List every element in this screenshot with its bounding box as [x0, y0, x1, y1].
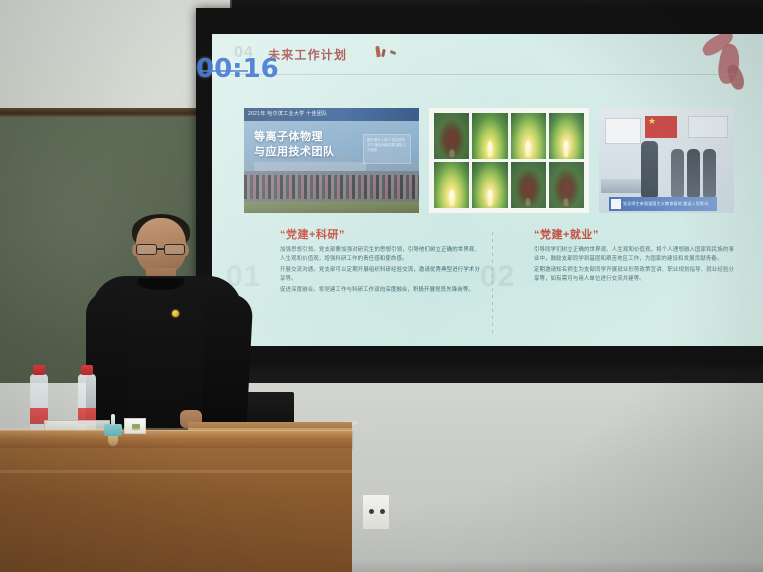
column-watermark-number: 02	[480, 262, 515, 292]
presentation-slide: 04 未来工作计划 2021年 哈尔滨工业大学 十佳团队 等离子体物理 与应用技…	[212, 34, 763, 346]
podium-front-panel	[0, 448, 352, 572]
slide-column-one: 01 “党建+科研” 加强思想引领。党支部要加强对研究生的思想引领，引导他们树立…	[246, 226, 484, 338]
party-exhibition-photo: 党员师生参观爱国主义教育基地 重温入党誓词	[599, 108, 734, 213]
grid-cell	[434, 113, 469, 159]
exhibit-rail	[601, 179, 645, 193]
column-heading: “党建+就业”	[534, 226, 599, 242]
team-photo-crowd	[244, 171, 419, 213]
grid-cell	[549, 113, 584, 159]
sweater-collar	[138, 276, 184, 290]
bottle-cap	[33, 365, 45, 375]
grid-cell	[472, 162, 507, 208]
podium-top	[0, 430, 352, 448]
column-paragraph: 加强思想引领。党支部要加强对研究生的思想引领，引导他们树立正确的世界观、人生观和…	[280, 246, 480, 263]
team-photo-banner: 2021年 哈尔滨工业大学 十佳团队	[244, 108, 419, 121]
mint-colored-item[interactable]	[104, 424, 122, 436]
wall-power-socket[interactable]	[362, 494, 390, 530]
column-body: 加强思想引领。党支部要加强对研究生的思想引领，引导他们树立正确的世界观、人生观和…	[280, 246, 480, 298]
slide-image-row: 2021年 哈尔滨工业大学 十佳团队 等离子体物理 与应用技术团队 团队带头人简…	[244, 108, 734, 213]
column-heading: “党建+科研”	[280, 226, 345, 242]
party-emblem-pin-icon	[172, 310, 179, 317]
column-body: 引导同学们树立正确的世界观、人生观和价值观，将个人理想融入国家和民族的事业中，鼓…	[534, 246, 734, 286]
visitor-figure	[703, 149, 716, 197]
column-paragraph: 促进深度融合。将党建工作与科研工作双向深度融合，积极开展党员先锋岗等。	[280, 286, 480, 295]
header-divider	[230, 74, 735, 75]
column-paragraph: 定期邀请知名师生为支部同学开展就业形势政策宣讲、职业规划指导、就业经验分享等，如…	[534, 266, 734, 283]
photo-caption: 党员师生参观爱国主义教育基地 重温入党誓词	[609, 197, 717, 211]
grid-cell	[434, 162, 469, 208]
podium-edge-highlight	[0, 428, 352, 431]
exhibit-panel	[688, 116, 728, 138]
eyeglasses-icon	[134, 244, 188, 255]
presenter-right-arm	[201, 293, 254, 427]
timer-overlay: 00:16	[196, 54, 279, 84]
column-paragraph: 开展交流沟通。党支部可以定期开展组织科研经验交流，邀请优秀典型进行学术分享等。	[280, 266, 480, 283]
party-flag-icon	[645, 116, 677, 138]
visitor-figure	[641, 141, 658, 197]
timer-strike-line	[200, 70, 248, 72]
slide-column-two: 02 “党建+就业” 引导同学们树立正确的世界观、人生观和价值观，将个人理想融入…	[500, 226, 738, 338]
projection-screen: 04 未来工作计划 2021年 哈尔滨工业大学 十佳团队 等离子体物理 与应用技…	[196, 8, 763, 364]
grid-cell	[511, 162, 546, 208]
grid-cell	[472, 113, 507, 159]
team-photo-headline: 等离子体物理 与应用技术团队	[254, 130, 364, 160]
white-box[interactable]	[124, 418, 146, 434]
team-photo-subcard: 团队带头人简介 团队研究方向 团队科研成果 团队人才培养	[363, 134, 411, 164]
team-group-photo: 2021年 哈尔滨工业大学 十佳团队 等离子体物理 与应用技术团队 团队带头人简…	[244, 108, 419, 213]
slide-title: 未来工作计划	[268, 46, 347, 63]
exhibit-panel	[605, 118, 641, 144]
visitor-figure	[687, 149, 700, 197]
bottle-cap	[81, 365, 93, 375]
plasma-image-grid	[429, 108, 589, 213]
classroom-scene: 04 未来工作计划 2021年 哈尔滨工业大学 十佳团队 等离子体物理 与应用技…	[0, 0, 763, 572]
torch-flag-icon	[374, 45, 400, 59]
column-paragraph: 引导同学们树立正确的世界观、人生观和价值观，将个人理想融入国家和民族的事业中，鼓…	[534, 246, 734, 263]
grid-cell	[549, 162, 584, 208]
grid-cell	[511, 113, 546, 159]
slide-header: 04 未来工作计划	[234, 44, 734, 74]
visitor-figure	[671, 149, 684, 197]
